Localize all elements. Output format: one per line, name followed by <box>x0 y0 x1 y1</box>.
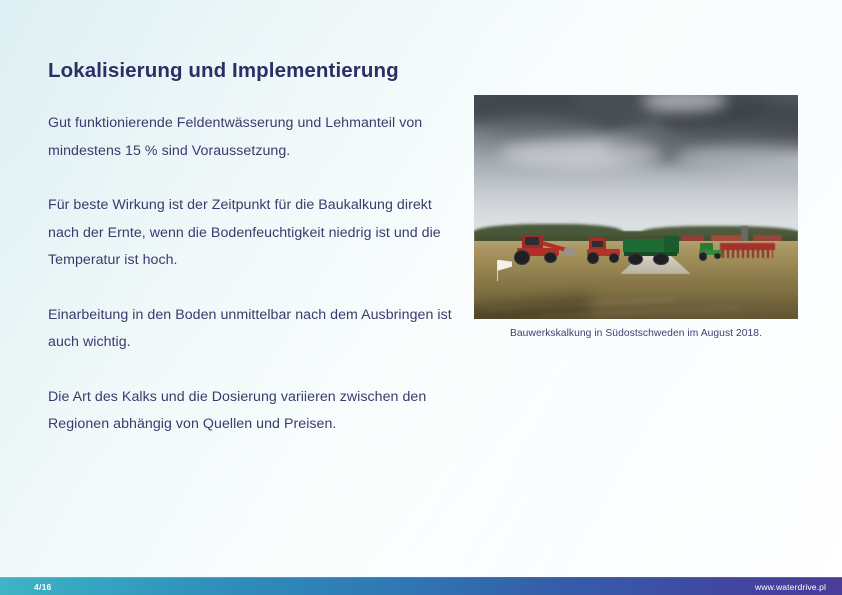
website-url[interactable]: www.waterdrive.pl <box>755 582 826 592</box>
paragraph-4: Die Art des Kalks und die Dosierung vari… <box>48 384 460 439</box>
spreader-wheel-front <box>628 253 643 265</box>
page-number: 4/16 <box>34 582 52 592</box>
body-text-column: Gut funktionierende Feldentwässerung und… <box>48 110 460 439</box>
figure: Bauwerkskalkung in Südostschweden im Aug… <box>474 95 798 339</box>
second-red-tractor <box>584 238 626 260</box>
spreader-wheel-rear <box>653 253 668 265</box>
tractor-rear-wheel <box>699 252 708 260</box>
slide-content: Lokalisierung und Implementierung Gut fu… <box>0 0 842 595</box>
sky <box>474 95 798 241</box>
field-photo <box>474 95 798 319</box>
red-cultivator-implement <box>720 243 775 251</box>
tractor-rear-wheel <box>587 252 600 264</box>
paragraph-2: Für beste Wirkung ist der Zeitpunkt für … <box>48 192 460 275</box>
field-shadow <box>474 295 591 319</box>
figure-caption: Bauwerkskalkung in Südostschweden im Aug… <box>474 328 798 339</box>
cloud-light-3 <box>675 145 798 171</box>
slide-footer: 4/16 www.waterdrive.pl <box>0 578 842 595</box>
red-tractor-with-loader <box>513 235 568 261</box>
tractor-front-wheel <box>609 253 619 262</box>
page-title: Lokalisierung und Implementierung <box>48 59 668 84</box>
paragraph-1: Gut funktionierende Feldentwässerung und… <box>48 110 460 165</box>
cloud-light-2 <box>500 139 662 168</box>
loader-bucket <box>564 248 575 255</box>
spreader-tailgate <box>664 236 679 253</box>
slide: Lokalisierung und Implementierung Gut fu… <box>0 0 842 595</box>
green-lime-spreader <box>623 237 681 261</box>
paragraph-3: Einarbeitung in den Boden unmittelbar na… <box>48 302 460 357</box>
